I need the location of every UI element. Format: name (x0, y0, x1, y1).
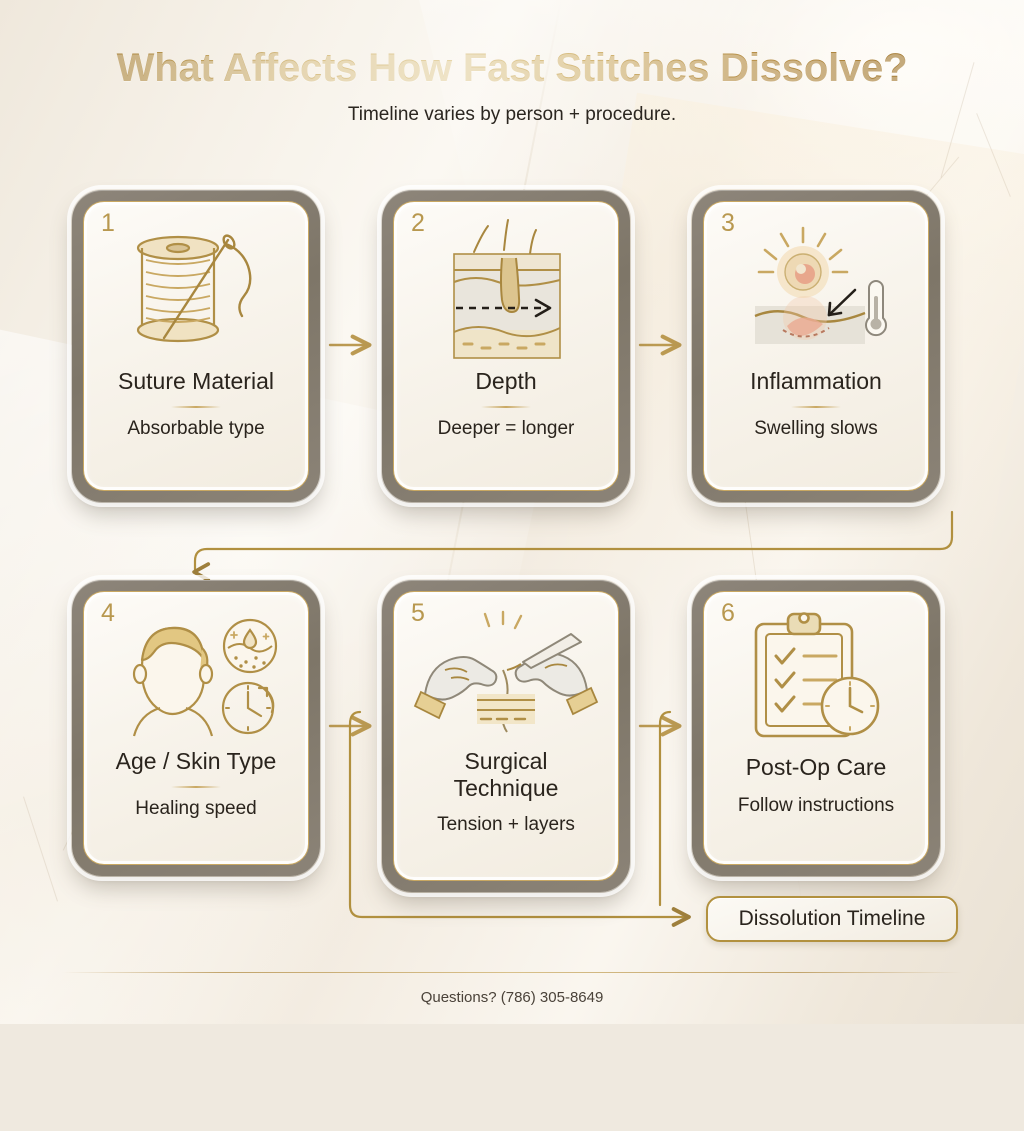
card-number: 4 (101, 601, 115, 626)
card-age-skin-type[interactable]: 4 (72, 580, 320, 876)
footer-divider (62, 972, 962, 973)
card-inner: 3 (703, 201, 929, 491)
card-number: 3 (721, 211, 735, 236)
inflammation-thermometer-icon (731, 218, 901, 368)
face-skin-clock-icon (106, 608, 286, 748)
card-subtitle: Swelling slows (754, 418, 878, 440)
card-suture-material[interactable]: 1 S (72, 190, 320, 502)
arrow-row2-to-pill-branch (660, 712, 670, 905)
card-subtitle: Healing speed (135, 798, 256, 820)
marble-vein (23, 797, 58, 902)
header: What Affects How Fast Stitches Dissolve?… (0, 46, 1024, 126)
dissolution-timeline-pill[interactable]: Dissolution Timeline (706, 896, 958, 942)
card-subtitle: Follow instructions (738, 795, 894, 817)
dissolution-timeline-label: Dissolution Timeline (739, 907, 926, 931)
card-number: 2 (411, 211, 425, 236)
card-surgical-technique[interactable]: 5 (382, 580, 630, 892)
card-inner: 4 (83, 591, 309, 865)
card-divider (171, 786, 221, 788)
card-post-op-care[interactable]: 6 (692, 580, 940, 876)
gloved-hands-suturing-icon (411, 608, 601, 748)
footer-contact: Questions? (786) 305-8649 (0, 989, 1024, 1006)
card-title: Age / Skin Type (116, 748, 277, 775)
skin-cross-section-depth-icon (426, 218, 586, 368)
card-inner: 6 (703, 591, 929, 865)
clipboard-checklist-clock-icon (736, 608, 896, 748)
card-title: Post-Op Care (746, 754, 887, 781)
card-title-line2: Technique (454, 775, 559, 801)
page-title: What Affects How Fast Stitches Dissolve? (0, 46, 1024, 90)
card-subtitle: Tension + layers (437, 814, 575, 836)
page-subtitle: Timeline varies by person + procedure. (0, 104, 1024, 126)
infographic-canvas: What Affects How Fast Stitches Dissolve?… (0, 0, 1024, 1024)
card-subtitle: Deeper = longer (438, 418, 575, 440)
card-subtitle: Absorbable type (127, 418, 264, 440)
card-inner: 2 (393, 201, 619, 491)
card-number: 6 (721, 601, 735, 626)
card-title-line1: Surgical (464, 748, 547, 774)
card-title: Suture Material (118, 368, 274, 395)
card-title: Surgical Technique (454, 748, 559, 802)
card-number: 5 (411, 601, 425, 626)
card-inflammation[interactable]: 3 (692, 190, 940, 502)
card-number: 1 (101, 211, 115, 236)
card-inner: 5 (393, 591, 619, 881)
card-title: Depth (475, 368, 536, 395)
arrow-card3-to-card4 (195, 512, 952, 572)
card-divider (481, 406, 531, 408)
card-divider (171, 406, 221, 408)
card-depth[interactable]: 2 (382, 190, 630, 502)
thread-spool-needle-icon (116, 218, 276, 368)
card-title: Inflammation (750, 368, 882, 395)
card-inner: 1 S (83, 201, 309, 491)
card-divider (791, 406, 841, 408)
